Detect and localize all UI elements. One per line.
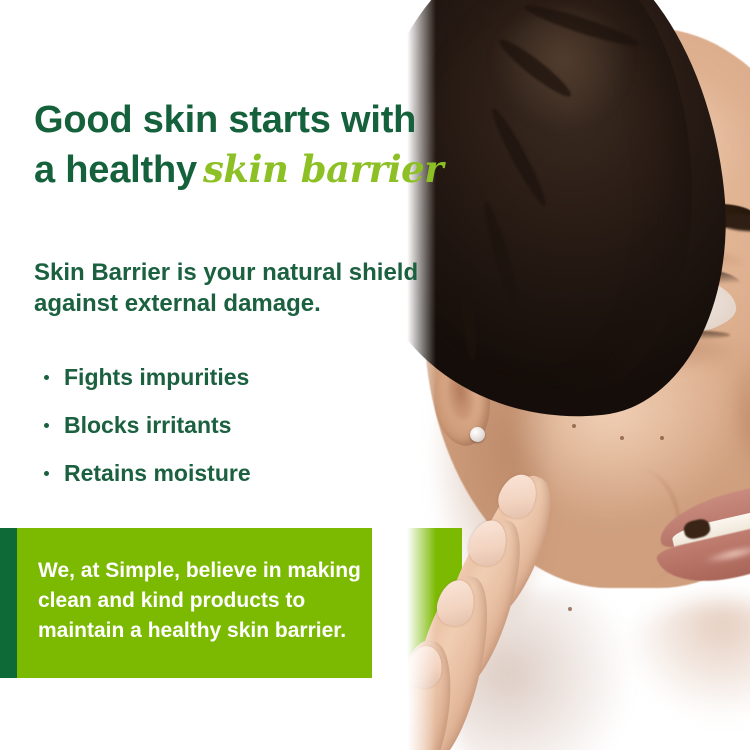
beauty-mark: [620, 436, 624, 440]
headline-line-2: a healthyskin barrier: [34, 145, 464, 195]
list-item: Fights impurities: [44, 366, 251, 389]
list-item: Retains moisture: [44, 462, 251, 485]
promo-banner-canvas: We, at Simple, believe in making clean a…: [0, 0, 750, 750]
list-item-label: Retains moisture: [64, 460, 251, 486]
benefits-list: Fights impurities Blocks irritants Retai…: [44, 366, 251, 510]
list-item-label: Blocks irritants: [64, 412, 231, 438]
headline-script-accent: skin barrier: [197, 147, 443, 191]
bullet-dot-icon: [44, 423, 49, 428]
pearl-earring-icon: [470, 427, 485, 442]
headline-line-1: Good skin starts with: [34, 96, 464, 145]
page-title: Good skin starts with a healthyskin barr…: [34, 96, 464, 196]
subheading-line-1: Skin Barrier is your natural shield: [34, 258, 454, 289]
banner-line-3: maintain a healthy skin barrier.: [38, 616, 438, 646]
beauty-mark: [572, 424, 576, 428]
banner-line-2: clean and kind products to: [38, 586, 438, 616]
list-item-label: Fights impurities: [64, 364, 249, 390]
banner-message: We, at Simple, believe in making clean a…: [38, 556, 438, 645]
banner-line-1: We, at Simple, believe in making: [38, 556, 438, 586]
banner-accent-bar: [0, 528, 17, 678]
subheading-line-2: against external damage.: [34, 289, 454, 320]
beauty-mark: [660, 436, 664, 440]
bullet-dot-icon: [44, 375, 49, 380]
bullet-dot-icon: [44, 471, 49, 476]
headline-line-2-plain: a healthy: [34, 149, 197, 191]
list-item: Blocks irritants: [44, 414, 251, 437]
subheading: Skin Barrier is your natural shield agai…: [34, 258, 454, 319]
